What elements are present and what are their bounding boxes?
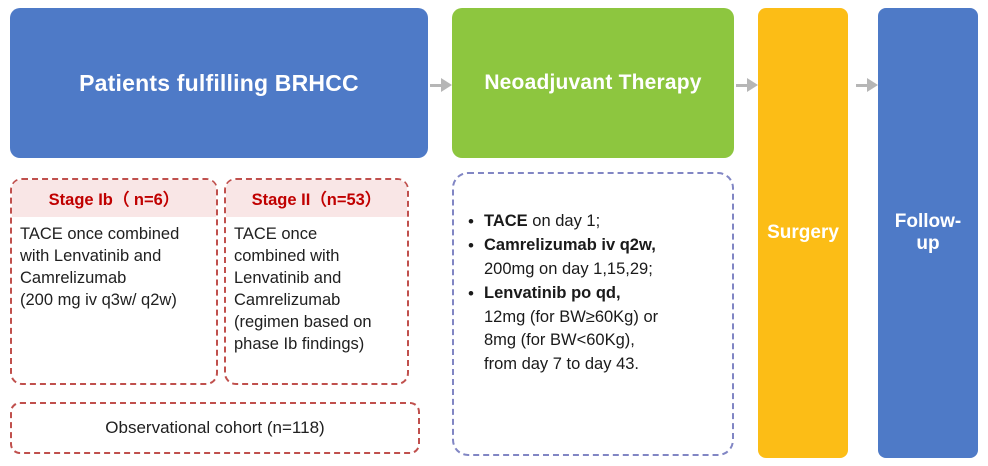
process-box-patients-label: Patients fulfilling BRHCC <box>79 70 359 96</box>
arrow-neoadjuvant-to-surgery <box>736 78 758 92</box>
regimen-item-bold: TACE <box>484 212 528 230</box>
regimen-list-item: • Camrelizumab iv q2w, 200mg on day 1,15… <box>484 234 724 281</box>
bullet-icon: • <box>468 234 474 258</box>
arrow-head-icon <box>747 78 758 92</box>
stage-card-ib-header: Stage Ib（ n=6） <box>12 180 216 217</box>
process-box-followup-label: Follow- up <box>895 211 961 255</box>
followup-label-line2: up <box>916 233 939 254</box>
process-box-neoadjuvant-therapy[interactable]: Neoadjuvant Therapy <box>452 8 734 158</box>
stage-ii-line: TACE once <box>234 224 401 246</box>
regimen-item-continuation: 8mg (for BW<60Kg), <box>484 329 724 352</box>
stage-ii-line: combined with <box>234 246 401 268</box>
process-box-followup[interactable]: Follow- up <box>878 8 978 458</box>
stage-ib-line: TACE once combined <box>20 224 210 246</box>
process-box-surgery-label: Surgery <box>767 222 839 244</box>
stage-card-ii-body: TACE once combined with Lenvatinib and C… <box>226 217 407 360</box>
arrow-surgery-to-followup <box>856 78 878 92</box>
regimen-list-item: • Lenvatinib po qd, 12mg (for BW≥60Kg) o… <box>484 282 724 376</box>
arrow-shaft <box>736 84 747 87</box>
arrow-patients-to-neoadjuvant <box>430 78 452 92</box>
bullet-icon: • <box>468 210 474 234</box>
stage-card-ii-header: Stage II（n=53） <box>226 180 407 217</box>
regimen-item-continuation: 200mg on day 1,15,29; <box>484 258 724 281</box>
arrow-head-icon <box>441 78 452 92</box>
stage-ii-line: phase Ib findings) <box>234 334 401 356</box>
stage-ib-line: with Lenvatinib and <box>20 246 210 268</box>
flowchart-canvas: Patients fulfilling BRHCC Neoadjuvant Th… <box>0 0 988 466</box>
regimen-item-rest: on day 1; <box>528 212 600 230</box>
arrow-head-icon <box>867 78 878 92</box>
process-box-surgery[interactable]: Surgery <box>758 8 848 458</box>
process-box-patients[interactable]: Patients fulfilling BRHCC <box>10 8 428 158</box>
regimen-list: • TACE on day 1; • Camrelizumab iv q2w, … <box>466 210 724 376</box>
observational-cohort-card[interactable]: Observational cohort (n=118) <box>10 402 420 454</box>
process-box-neoadjuvant-label: Neoadjuvant Therapy <box>484 71 701 95</box>
stage-card-ii[interactable]: Stage II（n=53） TACE once combined with L… <box>224 178 409 385</box>
regimen-item-bold: Camrelizumab iv q2w, <box>484 236 656 254</box>
stage-card-ib-body: TACE once combined with Lenvatinib and C… <box>12 217 216 316</box>
observational-cohort-label: Observational cohort (n=118) <box>105 418 324 438</box>
stage-ib-line: Camrelizumab <box>20 268 210 290</box>
arrow-shaft <box>856 84 867 87</box>
regimen-list-item: • TACE on day 1; <box>484 210 724 233</box>
stage-ib-line: (200 mg iv q3w/ q2w) <box>20 290 210 312</box>
arrow-shaft <box>430 84 441 87</box>
stage-card-ib[interactable]: Stage Ib（ n=6） TACE once combined with L… <box>10 178 218 385</box>
regimen-detail-card[interactable]: • TACE on day 1; • Camrelizumab iv q2w, … <box>452 172 734 456</box>
regimen-item-continuation: 12mg (for BW≥60Kg) or <box>484 306 724 329</box>
regimen-item-continuation: from day 7 to day 43. <box>484 353 724 376</box>
stage-ii-line: Camrelizumab <box>234 290 401 312</box>
followup-label-line1: Follow- <box>895 211 961 232</box>
stage-ii-line: (regimen based on <box>234 312 401 334</box>
regimen-item-bold: Lenvatinib po qd, <box>484 284 621 302</box>
bullet-icon: • <box>468 282 474 306</box>
stage-ii-line: Lenvatinib and <box>234 268 401 290</box>
